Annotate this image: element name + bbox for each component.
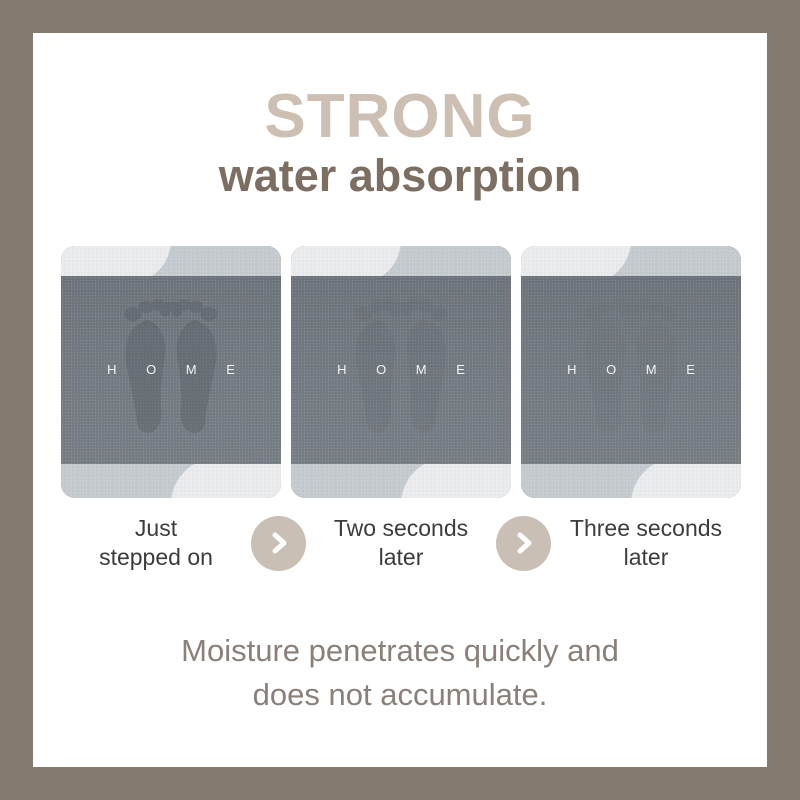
chevron-right-icon	[251, 516, 306, 571]
mat-top-edge-band	[291, 246, 511, 278]
arrow-slot-1	[251, 516, 306, 571]
mat-bottom-edge-band	[61, 464, 281, 498]
mat-corner-highlight	[521, 246, 631, 278]
mat-wordmark: H O M E	[61, 362, 281, 377]
mat-panel-two-seconds-later: H O M E	[291, 246, 511, 498]
caption-row: Just stepped on Two seconds later	[61, 507, 741, 579]
mat-panel-three-seconds-later: H O M E	[521, 246, 741, 498]
caption-line: later	[551, 543, 741, 572]
chevron-right-icon	[496, 516, 551, 571]
mat-corner-highlight	[291, 246, 401, 278]
caption-just-stepped-on: Just stepped on	[61, 514, 251, 572]
tagline-line-2: does not accumulate.	[33, 673, 767, 717]
headline-block: STRONG water absorption	[33, 85, 767, 199]
arrow-slot-2	[496, 516, 551, 571]
mat-top-edge-band	[61, 246, 281, 278]
tagline-block: Moisture penetrates quickly and does not…	[33, 629, 767, 717]
caption-two-seconds-later: Two seconds later	[306, 514, 496, 572]
mat-corner-highlight	[171, 464, 281, 498]
demo-panel-strip: H O M E	[61, 246, 741, 498]
caption-three-seconds-later: Three seconds later	[551, 514, 741, 572]
poster-canvas: STRONG water absorption	[33, 33, 767, 767]
headline-secondary: water absorption	[33, 152, 767, 199]
caption-line: Three seconds	[551, 514, 741, 543]
caption-line: Two seconds	[306, 514, 496, 543]
mat-corner-highlight	[401, 464, 511, 498]
caption-line: Just	[61, 514, 251, 543]
mat-bottom-edge-band	[291, 464, 511, 498]
mat-corner-highlight	[631, 464, 741, 498]
headline-primary: STRONG	[33, 85, 767, 148]
mat-wordmark: H O M E	[521, 362, 741, 377]
caption-line: stepped on	[61, 543, 251, 572]
mat-top-edge-band	[521, 246, 741, 278]
mat-panel-just-stepped-on: H O M E	[61, 246, 281, 498]
poster-frame: STRONG water absorption	[0, 0, 800, 800]
caption-line: later	[306, 543, 496, 572]
mat-wordmark: H O M E	[291, 362, 511, 377]
tagline-line-1: Moisture penetrates quickly and	[33, 629, 767, 673]
mat-bottom-edge-band	[521, 464, 741, 498]
mat-corner-highlight	[61, 246, 171, 278]
